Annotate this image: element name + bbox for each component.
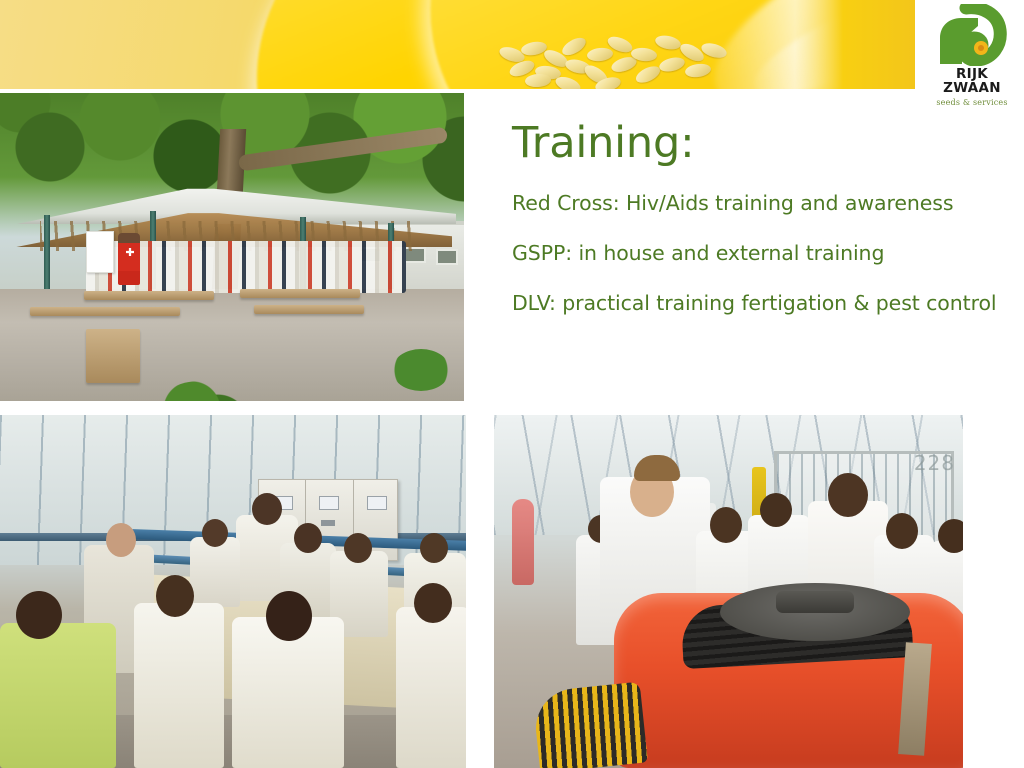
- background-shrub: [392, 349, 450, 391]
- list-item: DLV: practical training fertigation & pe…: [512, 290, 1002, 316]
- list-item: GSPP: in house and external training: [512, 240, 1002, 266]
- photo-red-cross-outdoor-training: [0, 93, 464, 401]
- worker-head: [266, 591, 312, 641]
- red-cross-trainer: [118, 233, 140, 285]
- bench: [240, 289, 360, 298]
- trainee-head: [938, 519, 963, 553]
- worker: [0, 623, 116, 768]
- photo-greenhouse-equipment-training: 228: [494, 415, 963, 768]
- wall-marking: [512, 499, 534, 585]
- slide-content: Training: Red Cross: Hiv/Aids training a…: [512, 118, 1002, 316]
- greenhouse-bay-number: 228: [914, 451, 955, 475]
- worker-head: [420, 533, 448, 563]
- trainee-head: [828, 473, 868, 517]
- page-title: Training:: [512, 118, 1002, 168]
- worker-head: [344, 533, 372, 563]
- worker: [396, 607, 466, 768]
- yellow-pepper-seeds-banner: [0, 0, 915, 89]
- company-logo: RIJK ZWAAN seeds & services: [926, 4, 1018, 106]
- worker-head: [294, 523, 322, 553]
- presentation-slide: RIJK ZWAAN seeds & services: [0, 0, 1024, 768]
- banner-right-fade: [795, 0, 915, 89]
- trainee-head: [710, 507, 742, 543]
- list-item: Red Cross: Hiv/Aids training and awarene…: [512, 190, 1002, 216]
- bench: [254, 305, 364, 314]
- ground-surface: [0, 289, 464, 401]
- worker-head: [252, 493, 282, 525]
- tank-lid-handle: [776, 591, 854, 613]
- bench: [30, 307, 180, 316]
- logo-wordmark: RIJK ZWAAN: [926, 67, 1018, 95]
- flipchart: [86, 231, 114, 273]
- bench: [84, 291, 214, 300]
- trainee-head: [760, 493, 792, 527]
- rijk-zwaan-sprout-logo-icon: [926, 4, 1018, 66]
- worker-head: [414, 583, 452, 623]
- logo-tagline: seeds & services: [926, 98, 1018, 107]
- worker: [190, 537, 240, 607]
- worker: [134, 603, 224, 768]
- worker-head: [16, 591, 62, 639]
- worker-head: [156, 575, 194, 617]
- photo-packing-hall-training: [0, 415, 466, 768]
- bench: [86, 329, 140, 383]
- trainee-head: [886, 513, 918, 549]
- trainer-head: [106, 523, 136, 557]
- bullet-list: Red Cross: Hiv/Aids training and awarene…: [512, 190, 1002, 316]
- worker-head: [202, 519, 228, 547]
